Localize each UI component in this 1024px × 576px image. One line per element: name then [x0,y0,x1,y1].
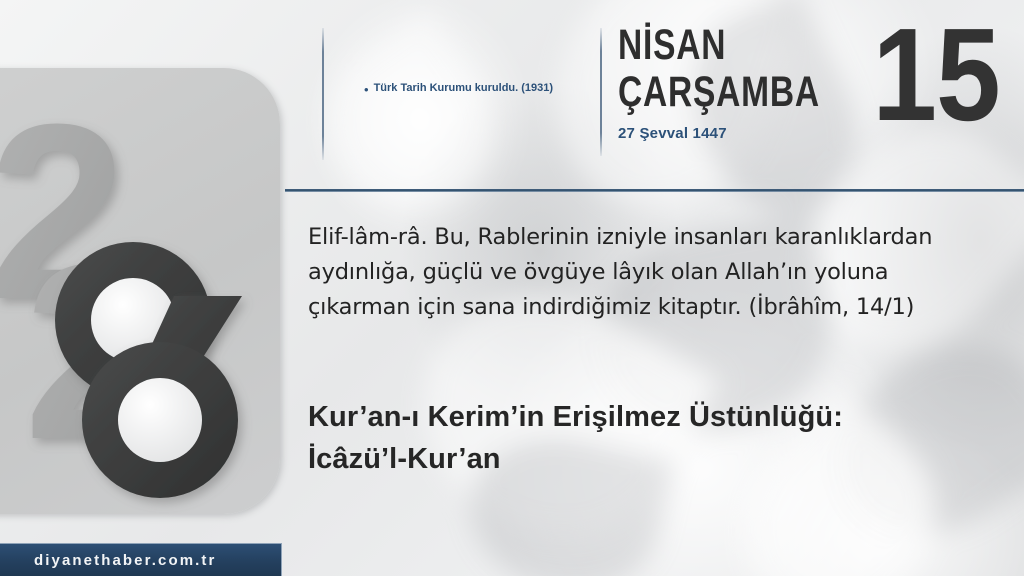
event-list-item: • Türk Tarih Kurumu kuruldu. (1931) [364,82,584,96]
year-logo-icon: 2 2 [0,68,280,514]
hijri-date-label: 27 Şevval 1447 [618,125,868,142]
verse-line: aydınlığa, güçlü ve övgüye lâyık olan Al… [308,255,963,290]
year-logo-2026: 2 2 [0,68,280,514]
site-url-band[interactable]: diyanethaber.com.tr [0,543,282,576]
weekday-label: ÇARŞAMBA [618,73,813,113]
verse-text: Elif-lâm-râ. Bu, Rablerinin izniyle insa… [308,220,963,325]
verse-line: Elif-lâm-râ. Bu, Rablerinin izniyle insa… [308,220,963,255]
day-number: 15 [873,9,1000,141]
horizontal-divider [285,189,1024,192]
bullet-icon: • [364,83,369,96]
petal-shape [296,9,525,240]
site-url-text: diyanethaber.com.tr [0,552,216,569]
date-block: NİSAN ÇARŞAMBA 27 Şevval 1447 [618,26,868,142]
month-label: NİSAN [618,26,813,66]
article-headline: Kur’an-ı Kerim’in Erişilmez Üstünlüğü: İ… [308,396,948,480]
vertical-divider-right [600,28,602,156]
calendar-page: 2 2 diyanethaber. [0,0,1024,576]
vertical-divider-left [322,28,324,160]
logo-panel: 2 2 [0,68,280,514]
event-text: Türk Tarih Kurumu kuruldu. (1931) [374,82,554,95]
verse-line: çıkarman için sana indirdiğimiz kitaptır… [308,290,963,325]
